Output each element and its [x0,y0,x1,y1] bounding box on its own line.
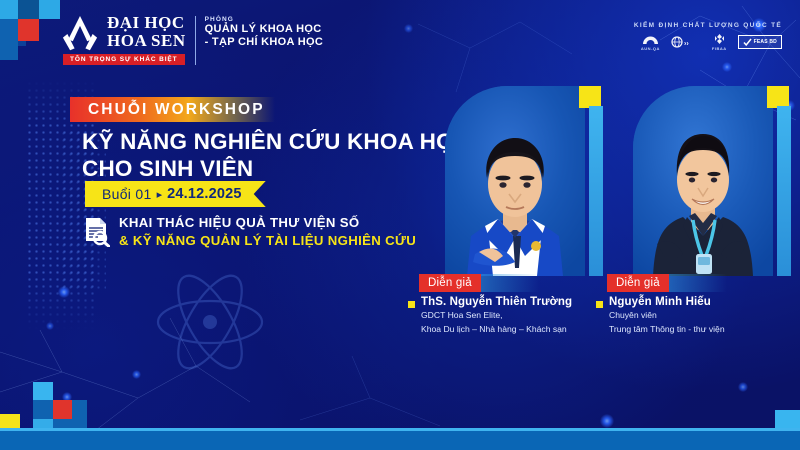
light-glow-6 [132,370,141,379]
speaker-card-2 [633,86,793,276]
university-logo: ĐẠI HỌC HOA SEN TÔN TRỌNG SỰ KHÁC BIỆT P… [62,14,323,65]
aun-qa-arch-icon [642,34,659,45]
accreditation-badge-feasbd: FEAS BD [738,35,782,49]
feasbd-caption: FEAS BD [754,39,777,45]
mosaic-tile-tl-1 [0,0,18,19]
fibaa-caption: FIBAA [712,46,727,51]
event-title-line-2: CHO SINH VIÊN [82,155,482,182]
department-line-1: QUẢN LÝ KHOA HỌC [205,23,323,36]
accreditation-title: KIỂM ĐỊNH CHẤT LƯỢNG QUỐC TẾ [634,22,782,29]
mosaic-tile-tl-6 [0,41,18,60]
speaker-1-info: ThS. Nguyễn Thiên Trường GDCT Hoa Sen El… [408,296,572,335]
mosaic-tile-tl-3 [39,0,60,19]
accreditation-badges: AUN-QA ›› FIBAA [634,33,782,51]
speaker-1-badge: Diễn giả [419,274,481,292]
mosaic-tile-bl-3 [53,400,72,419]
lotus-mountain-logo-icon [62,14,98,54]
feasbd-check-icon [743,38,752,47]
department-prefix: PHÒNG [205,16,323,23]
svg-text:››: ›› [684,41,689,48]
logo-divider [195,16,196,65]
mosaic-tile-tl-5 [18,19,39,41]
accreditation-block: KIỂM ĐỊNH CHẤT LƯỢNG QUỐC TẾ AUN-QA ›› [634,22,782,51]
topic-lines: KHAI THÁC HIỆU QUẢ THƯ VIỆN SỐ & KỸ NĂNG… [119,215,416,248]
speaker-2-yellow-accent [767,86,789,108]
light-glow-9 [404,24,413,33]
mosaic-tile-tl-4 [0,19,18,41]
speaker-photo-1 [445,86,585,276]
speaker-1-name: ThS. Nguyễn Thiên Trường [421,296,572,308]
speaker-1-bullet [408,301,415,308]
speaker-2-info: Nguyễn Minh Hiếu Chuyên viên Trung tâm T… [596,296,725,335]
series-badge-label: CHUỖI WORKSHOP [88,101,265,119]
session-date: 24.12.2025 [167,186,242,202]
logo-line-2: HOA SEN [107,32,186,50]
accreditation-badge-acbsp: ›› [671,36,701,48]
speaker-2-role-line-1: Chuyên viên [609,310,725,322]
topic-line-1: KHAI THÁC HIỆU QUẢ THƯ VIỆN SỐ [119,215,416,230]
speaker-2-cyan-bar [777,106,791,276]
speaker-2-badge-label: Diễn giả [616,277,660,289]
speaker-1-role-line-1: GDCT Hoa Sen Elite, [421,310,572,322]
bottom-accent-bar [0,428,800,450]
mosaic-tile-tl-7 [18,41,26,46]
session-arrow-icon: ▸ [157,188,163,201]
speaker-photo-2 [633,86,773,276]
document-search-icon [84,217,110,247]
mosaic-tile-bl-2 [33,382,53,400]
topic-block: KHAI THÁC HIỆU QUẢ THƯ VIỆN SỐ & KỸ NĂNG… [84,215,416,248]
speaker-2-bullet [596,301,603,308]
mosaic-tile-br-1 [775,410,800,428]
poster-canvas: ĐẠI HỌC HOA SEN TÔN TRỌNG SỰ KHÁC BIỆT P… [0,0,800,450]
light-glow-2 [722,62,732,72]
accreditation-badge-fibaa: FIBAA [712,33,727,51]
light-glow-10 [738,382,748,392]
event-title-line-1: KỸ NĂNG NGHIÊN CỨU KHOA HỌC [82,128,482,155]
logo-line-1: ĐẠI HỌC [107,14,186,32]
light-glow-8 [600,414,614,428]
department-line-2: - TẠP CHÍ KHOA HỌC [205,36,323,49]
logo-tagline: TÔN TRỌNG SỰ KHÁC BIỆT [63,54,185,65]
speaker-1-badge-label: Diễn giả [428,277,472,289]
department-block: PHÒNG QUẢN LÝ KHOA HỌC - TẠP CHÍ KHOA HỌ… [205,14,323,49]
series-badge: CHUỖI WORKSHOP [70,97,275,122]
speaker-card-1 [445,86,605,276]
mosaic-tile-tl-2 [18,0,39,19]
speaker-avatar-2-illustration [633,86,773,276]
acbsp-globe-icon: ›› [671,36,701,48]
speaker-1-role-line-2: Khoa Du lịch – Nhà hàng – Khách sạn [421,324,572,336]
aun-qa-caption: AUN-QA [641,46,660,51]
atom-molecule-icon [150,262,270,382]
session-label: Buổi 01 [102,186,152,202]
speaker-2-role-line-2: Trung tâm Thông tin - thư viện [609,324,725,336]
topic-line-2: & KỸ NĂNG QUẢN LÝ TÀI LIỆU NGHIÊN CỨU [119,233,416,248]
event-title: KỸ NĂNG NGHIÊN CỨU KHOA HỌC CHO SINH VIÊ… [82,128,482,182]
speaker-avatar-1-illustration [445,86,585,276]
fibaa-icon [713,33,726,45]
session-date-pill: Buổi 01 ▸ 24.12.2025 [85,181,266,207]
speaker-1-yellow-accent [579,86,601,108]
speaker-2-badge: Diễn giả [607,274,669,292]
speaker-1-cyan-bar [589,106,603,276]
accreditation-badge-aunqa: AUN-QA [641,34,660,51]
speaker-2-name: Nguyễn Minh Hiếu [609,296,725,308]
